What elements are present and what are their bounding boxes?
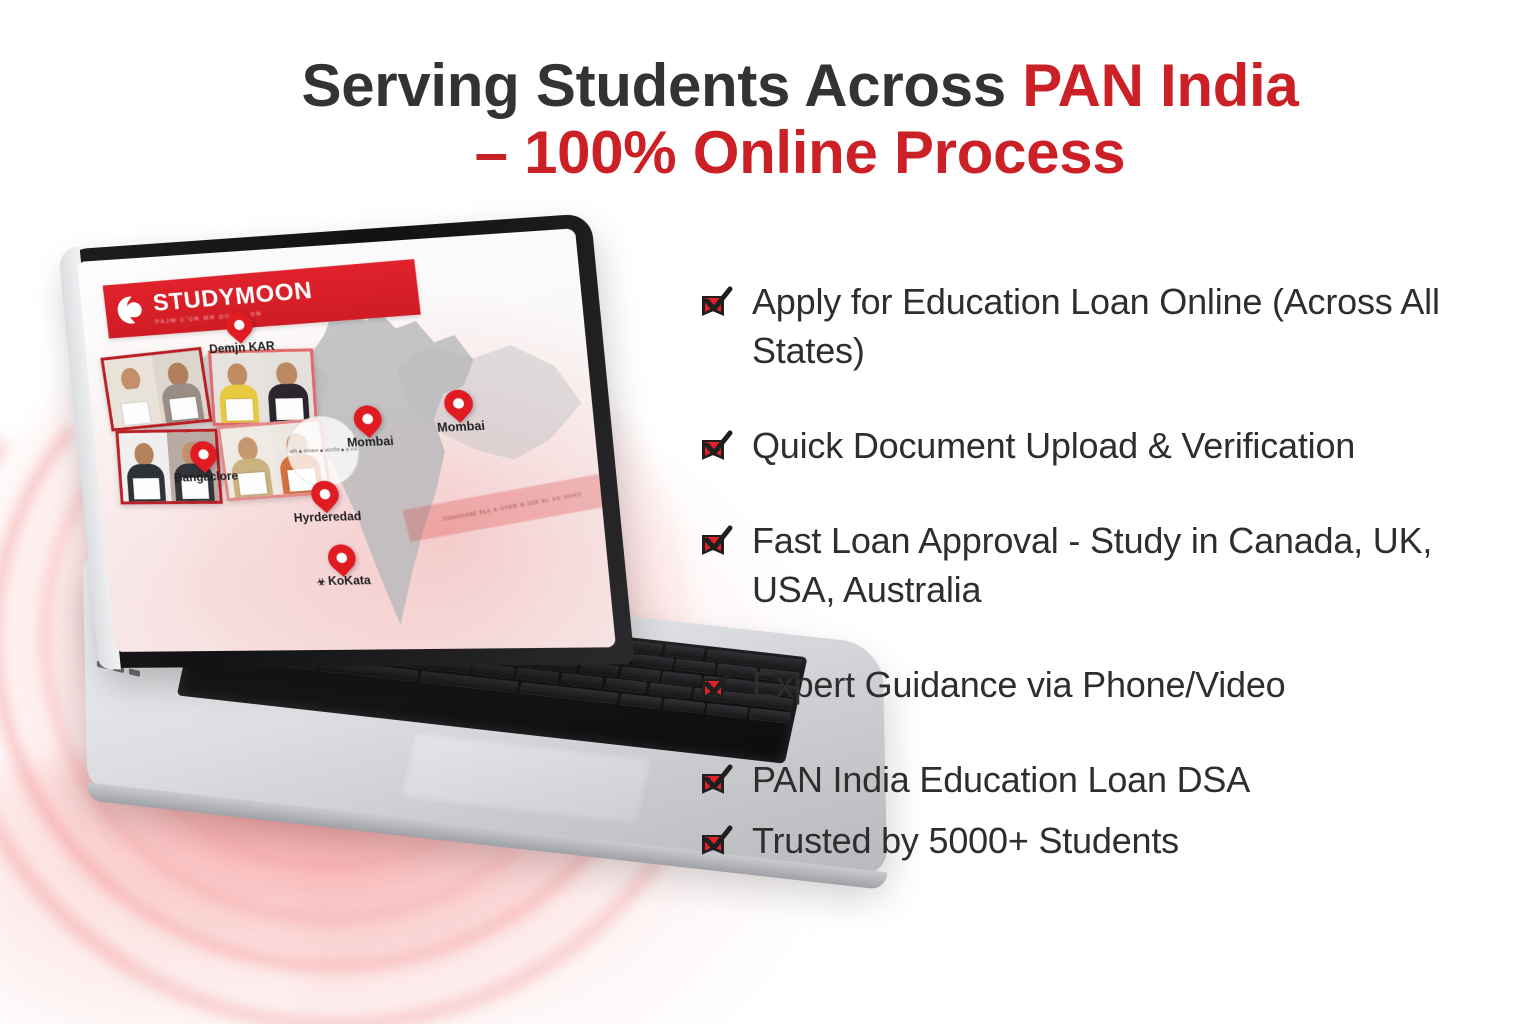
laptop-lid: STUDYMOON ᴘᴀᴊᴍ ᴄ'ᴜɴ ᴍʀ ᴅᴜɴᴀᴄ ᴏɴ <box>62 213 635 668</box>
list-item-label: Fast Loan Approval - Study in Canada, UK… <box>752 517 1500 615</box>
list-item-label: PAN India Education Loan DSA <box>752 756 1250 805</box>
checkmark-icon <box>700 667 734 705</box>
list-item: Apply for Education Loan Online (Across … <box>700 278 1500 376</box>
laptop-screen: STUDYMOON ᴘᴀᴊᴍ ᴄ'ᴜɴ ᴍʀ ᴅᴜɴᴀᴄ ᴏɴ <box>77 228 616 652</box>
checkmark-icon <box>700 284 734 322</box>
crescent-moon-icon <box>116 295 146 324</box>
laptop-trackpad <box>399 731 654 826</box>
promo-banner: Serving Students Across PAN India – 100%… <box>0 0 1536 1024</box>
list-item: Trusted by 5000+ Students <box>700 817 1500 866</box>
map-pin[interactable]: KoKata <box>326 544 357 580</box>
map-pin[interactable]: Demjn KAR <box>225 311 255 347</box>
list-item: PAN India Education Loan DSA <box>700 756 1500 805</box>
list-item-label: Quick Document Upload & Verification <box>752 422 1355 471</box>
map-pin[interactable]: Bangaclore <box>189 440 219 475</box>
list-item: Expert Guidance via Phone/Video <box>700 661 1500 710</box>
list-item-label: Trusted by 5000+ Students <box>752 817 1179 866</box>
checkmark-icon <box>700 428 734 466</box>
list-item-label: Apply for Education Loan Online (Across … <box>752 278 1500 376</box>
photo-card <box>208 348 318 426</box>
list-item: Fast Loan Approval - Study in Canada, UK… <box>700 517 1500 615</box>
checkmark-icon <box>700 762 734 800</box>
map-pin-label: Mombai <box>437 420 486 435</box>
headline-line1-plain: Serving Students Across <box>302 52 1023 119</box>
map-pin-label: Mombai <box>347 436 395 450</box>
checkmark-icon <box>700 823 734 861</box>
map-pin[interactable]: Mombai <box>443 389 475 426</box>
photo-card <box>101 347 214 432</box>
map-pin[interactable]: Mombai <box>353 405 384 441</box>
checkmark-icon <box>700 523 734 561</box>
map-pin-label: Bangaclore <box>174 470 239 484</box>
list-item-label: Expert Guidance via Phone/Video <box>752 661 1286 710</box>
map-pin[interactable]: Hyrderedad <box>310 480 341 516</box>
page-title: Serving Students Across PAN India – 100%… <box>180 52 1420 186</box>
map-pin-label: Hyrderedad <box>293 510 362 524</box>
headline-line1-accent: PAN India <box>1022 52 1298 119</box>
feature-list: Apply for Education Loan Online (Across … <box>700 278 1500 878</box>
list-item: Quick Document Upload & Verification <box>700 422 1500 471</box>
headline-line2: – 100% Online Process <box>180 119 1420 186</box>
map-pin-label: KoKata <box>316 575 371 588</box>
